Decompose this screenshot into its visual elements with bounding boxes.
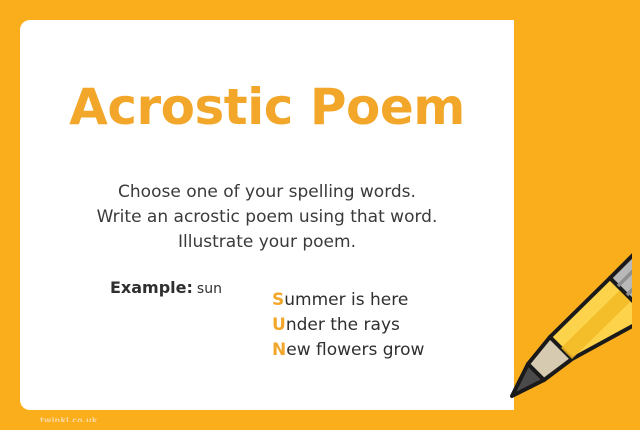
poem-line: New flowers grow bbox=[272, 338, 424, 363]
watermark: twinkl.co.uk bbox=[40, 416, 97, 422]
poem-initial-letter: N bbox=[272, 340, 286, 360]
poem-line-text: ew flowers grow bbox=[286, 340, 424, 360]
acrostic-poem-example: Summer is here Under the rays New flower… bbox=[272, 288, 424, 363]
pencil-icon bbox=[498, 233, 632, 408]
poem-line-text: ummer is here bbox=[284, 290, 408, 310]
worksheet-card: Acrostic Poem Choose one of your spellin… bbox=[20, 20, 514, 410]
poem-line-text: nder the rays bbox=[286, 315, 400, 335]
example-label: Example: bbox=[110, 278, 193, 297]
poem-initial-letter: U bbox=[272, 315, 286, 335]
instruction-line-1: Choose one of your spelling words. bbox=[20, 180, 514, 205]
example-block: Example:sun bbox=[110, 278, 222, 297]
page-title: Acrostic Poem bbox=[20, 82, 514, 132]
example-word: sun bbox=[197, 281, 222, 297]
instruction-line-2: Write an acrostic poem using that word. bbox=[20, 205, 514, 230]
poem-initial-letter: S bbox=[272, 290, 284, 310]
instructions-block: Choose one of your spelling words. Write… bbox=[20, 180, 514, 255]
poem-line: Under the rays bbox=[272, 313, 424, 338]
instruction-line-3: Illustrate your poem. bbox=[20, 230, 514, 255]
poster-frame: Acrostic Poem Choose one of your spellin… bbox=[8, 8, 632, 422]
poem-line: Summer is here bbox=[272, 288, 424, 313]
